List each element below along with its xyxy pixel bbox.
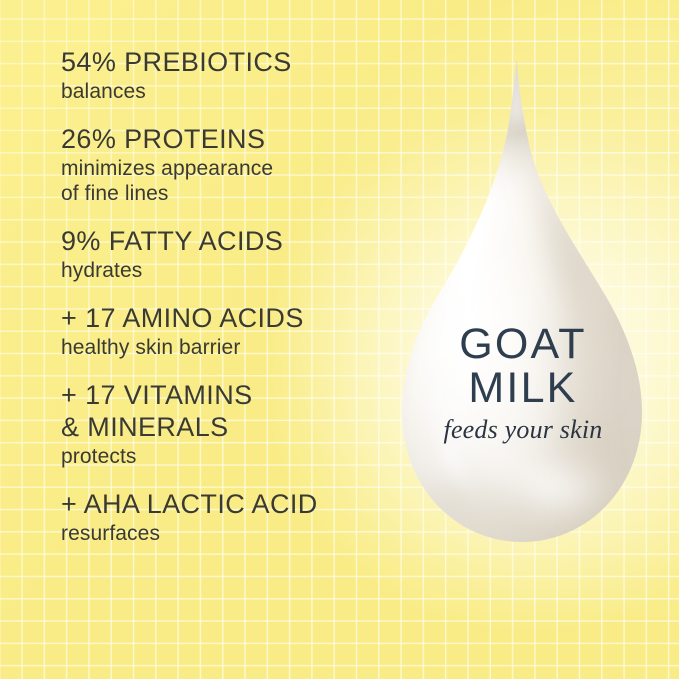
droplet-tip-highlight	[511, 60, 521, 120]
ingredient-item-amino-acids: + 17 AMINO ACIDS healthy skin barrier	[61, 302, 391, 360]
ingredient-heading: + AHA LACTIC ACID	[61, 488, 391, 520]
product-infographic: 54% PREBIOTICS balances 26% PROTEINS min…	[0, 0, 679, 679]
milk-droplet-icon	[384, 56, 664, 548]
ingredient-item-vitamins-minerals: + 17 VITAMINS & MINERALS protects	[61, 379, 391, 469]
ingredient-benefit: resurfaces	[61, 521, 391, 546]
ingredient-heading: 54% PREBIOTICS	[61, 46, 391, 78]
milk-droplet-illustration	[384, 56, 664, 548]
ingredient-list: 54% PREBIOTICS balances 26% PROTEINS min…	[61, 46, 391, 565]
ingredient-heading: 9% FATTY ACIDS	[61, 225, 391, 257]
ingredient-benefit: minimizes appearance of fine lines	[61, 156, 391, 206]
ingredient-benefit: protects	[61, 444, 391, 469]
ingredient-benefit: healthy skin barrier	[61, 335, 391, 360]
ingredient-heading: + 17 AMINO ACIDS	[61, 302, 391, 334]
droplet-bottom-shadow	[414, 478, 546, 538]
ingredient-heading: 26% PROTEINS	[61, 123, 391, 155]
ingredient-benefit: balances	[61, 79, 391, 104]
ingredient-heading: + 17 VITAMINS & MINERALS	[61, 379, 391, 443]
ingredient-item-prebiotics: 54% PREBIOTICS balances	[61, 46, 391, 104]
ingredient-item-fatty-acids: 9% FATTY ACIDS hydrates	[61, 225, 391, 283]
ingredient-item-aha-lactic-acid: + AHA LACTIC ACID resurfaces	[61, 488, 391, 546]
ingredient-benefit: hydrates	[61, 258, 391, 283]
ingredient-item-proteins: 26% PROTEINS minimizes appearance of fin…	[61, 123, 391, 206]
